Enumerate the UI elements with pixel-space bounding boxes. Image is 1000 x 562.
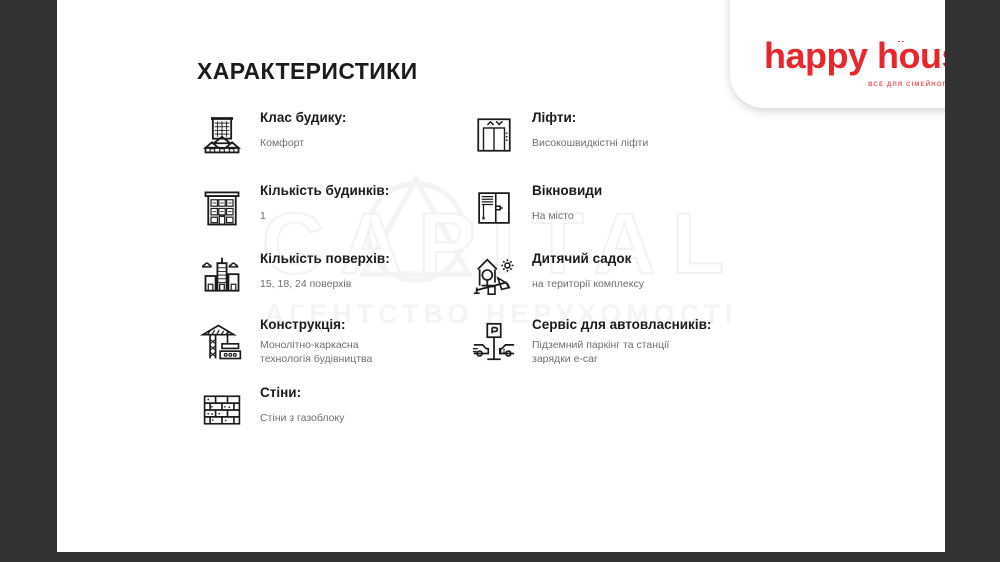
window-view-icon <box>467 181 521 235</box>
brick-wall-icon <box>195 383 249 437</box>
feature-title: Клас будику: <box>260 110 346 127</box>
brand-tagline: ВСЕ ДЛЯ СІМЕЙНОГО ЩАСТЯ <box>868 81 945 88</box>
feature-title: Сервіс для автовласників: <box>532 317 711 334</box>
feature-title: Кількість поверхів: <box>260 251 390 268</box>
residential-block-icon <box>195 181 249 235</box>
feature-value: Комфорт <box>260 136 346 150</box>
construction-crane-icon <box>195 315 249 369</box>
feature-title: Конструкція: <box>260 317 372 334</box>
feature-car-service: Сервіс для автовласників: Підземний парк… <box>467 315 767 369</box>
elevator-icon <box>467 108 521 162</box>
slide-viewer: CAPITAL АГЕНТСТВО НЕРУХОМОСТІ ХАРАКТЕРИС… <box>0 0 1000 562</box>
feature-value: 1 <box>260 209 389 223</box>
presentation-slide: CAPITAL АГЕНТСТВО НЕРУХОМОСТІ ХАРАКТЕРИС… <box>57 0 945 552</box>
feature-title: Стіни: <box>260 385 344 402</box>
feature-title: Ліфти: <box>532 110 648 127</box>
feature-elevators: Ліфти: Високошвидкістні ліфти <box>467 108 767 162</box>
feature-title: Вікновиди <box>532 183 602 200</box>
feature-window-views: Вікновиди На місто <box>467 181 767 235</box>
feature-floor-count: Кількість поверхів: 15, 18, 24 поверхів <box>195 249 455 303</box>
features-column-left: Клас будику: Комфорт <box>195 108 455 437</box>
parking-sign-icon <box>467 315 521 369</box>
feature-value: на території комплексу <box>532 277 644 291</box>
feature-value: 15, 18, 24 поверхів <box>260 277 390 291</box>
feature-walls: Стіни: Стіни з газоблоку <box>195 383 455 437</box>
apartment-building-icon <box>195 108 249 162</box>
brand-word-house-part2: use <box>920 35 945 76</box>
feature-title: Кількість будинків: <box>260 183 389 200</box>
feature-value: Підземний паркінг та станції зарядки e-c… <box>532 338 711 366</box>
feature-kindergarten: Дитячий садок на території комплексу <box>467 249 767 303</box>
feature-building-class: Клас будику: Комфорт <box>195 108 455 162</box>
feature-building-count: Кількість будинків: 1 <box>195 181 455 235</box>
page-title: ХАРАКТЕРИСТИКИ <box>197 58 418 85</box>
playground-icon <box>467 249 521 303</box>
feature-construction: Конструкція: Монолітно-каркасна технолог… <box>195 315 455 369</box>
features-column-right: Ліфти: Високошвидкістні ліфти <box>467 108 767 369</box>
feature-value: Стіни з газоблоку <box>260 411 344 425</box>
brand-wordmark: happy ho¨use <box>764 38 945 74</box>
skyline-tower-icon <box>195 249 249 303</box>
feature-value: На місто <box>532 209 602 223</box>
brand-umlaut-mark: ¨ <box>898 40 903 49</box>
feature-value: Високошвидкістні ліфти <box>532 136 648 150</box>
feature-title: Дитячий садок <box>532 251 644 268</box>
feature-value: Монолітно-каркасна технологія будівництв… <box>260 338 372 366</box>
brand-logo-card: happy ho¨use ВСЕ ДЛЯ СІМЕЙНОГО ЩАСТЯ <box>730 0 945 108</box>
brand-word-happy: happy <box>764 35 868 76</box>
